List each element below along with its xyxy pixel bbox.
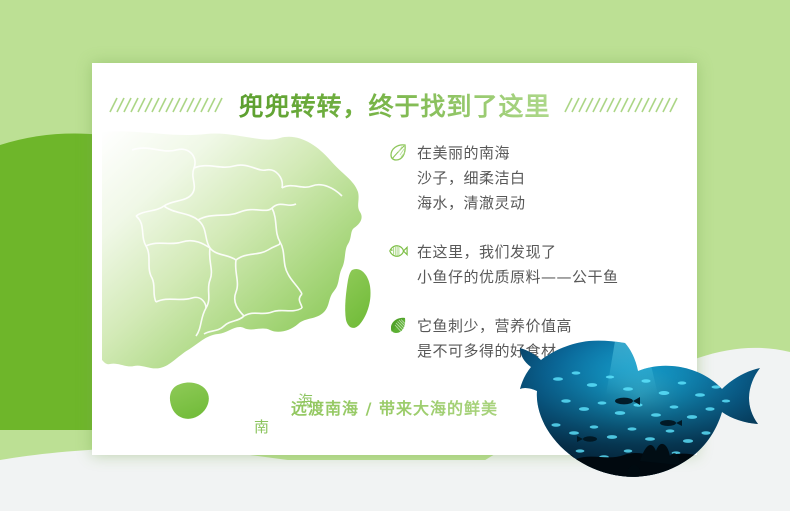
fish-outline-icon <box>388 241 408 261</box>
south-china-map: 海 南 <box>102 128 402 433</box>
leaf-outline-icon <box>388 142 408 162</box>
bullet-line: 海水，清澈灵动 <box>417 191 526 216</box>
bullet-line: 沙子，细柔洁白 <box>417 166 526 191</box>
bullet-text-2: 在这里，我们发现了 小鱼仔的优质原料——公干鱼 <box>417 240 619 290</box>
leaf-solid-icon <box>388 315 408 335</box>
map-taiwan-island <box>345 269 370 328</box>
bullet-line: 在这里，我们发现了 <box>417 240 619 265</box>
diagonal-hatch-right-icon <box>563 97 681 113</box>
fish-photo-content <box>520 335 782 511</box>
bullet-line: 小鱼仔的优质原料——公干鱼 <box>417 265 619 290</box>
map-graphic <box>102 128 402 433</box>
bullet-text-1: 在美丽的南海 沙子，细柔洁白 海水，清澈灵动 <box>417 141 526 216</box>
bullet-item-2: 在这里，我们发现了 小鱼仔的优质原料——公干鱼 <box>388 240 688 290</box>
fish-photo-silhouette <box>520 335 782 511</box>
bullet-line: 在美丽的南海 <box>417 141 526 166</box>
page-title: 兜兜转转，终于找到了这里 <box>238 87 550 123</box>
bullet-item-1: 在美丽的南海 沙子，细柔洁白 海水，清澈灵动 <box>388 141 688 216</box>
card-title-row: 兜兜转转，终于找到了这里 <box>92 85 697 125</box>
poster-canvas: 兜兜转转，终于找到了这里 <box>0 0 790 511</box>
diagonal-hatch-left-icon <box>108 97 226 113</box>
map-label-nan: 南 <box>254 416 270 437</box>
